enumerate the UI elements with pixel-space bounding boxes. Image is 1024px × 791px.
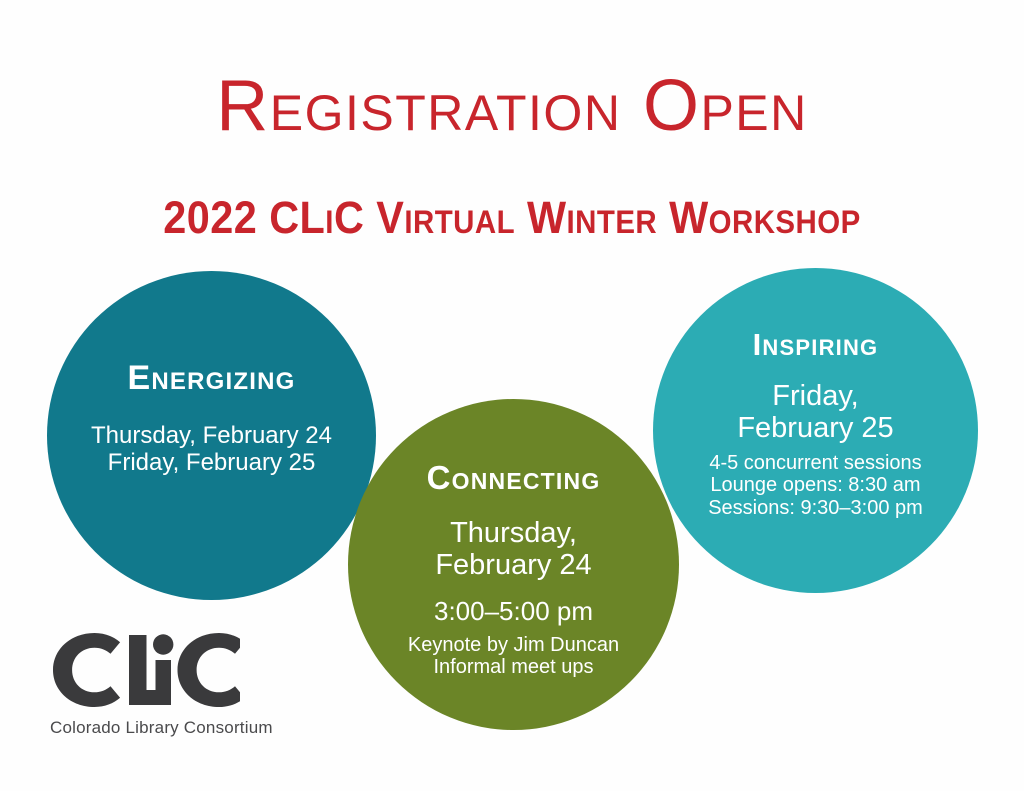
circle-connecting: Connecting Thursday, February 24 3:00–5:… xyxy=(348,399,679,730)
circle-inspiring-detail-1: 4-5 concurrent sessions xyxy=(659,452,972,474)
circle-inspiring-date-line-1: Friday, xyxy=(663,380,968,412)
clic-logo-tagline: Colorado Library Consortium xyxy=(50,718,252,738)
circle-connecting-details: Keynote by Jim Duncan Informal meet ups xyxy=(356,634,671,679)
circle-energizing: Energizing Thursday, February 24 Friday,… xyxy=(47,271,376,600)
page-title: Registration Open xyxy=(0,64,1024,148)
circle-energizing-line-1: Thursday, February 24 xyxy=(55,423,368,450)
circle-energizing-line-2: Friday, February 25 xyxy=(55,450,368,477)
circle-energizing-heading: Energizing xyxy=(47,361,376,397)
circle-connecting-date: Thursday, February 24 xyxy=(358,517,669,582)
circle-inspiring-date: Friday, February 25 xyxy=(663,380,968,445)
poster-canvas: Registration Open 2022 CLiC Virtual Wint… xyxy=(0,0,1024,791)
circle-energizing-body: Thursday, February 24 Friday, February 2… xyxy=(55,423,368,477)
circle-inspiring-detail-2: Lounge opens: 8:30 am xyxy=(659,474,972,496)
circle-connecting-heading: Connecting xyxy=(348,461,679,496)
circle-connecting-detail-2: Informal meet ups xyxy=(356,656,671,678)
circle-connecting-time: 3:00–5:00 pm xyxy=(358,596,669,627)
clic-logo: Colorado Library Consortium xyxy=(50,630,255,750)
circle-inspiring: Inspiring Friday, February 25 4-5 concur… xyxy=(653,268,978,593)
circle-inspiring-heading: Inspiring xyxy=(653,329,978,362)
circle-inspiring-detail-3: Sessions: 9:30–3:00 pm xyxy=(659,497,972,519)
circle-inspiring-date-line-2: February 25 xyxy=(663,412,968,444)
clic-wordmark-icon xyxy=(50,630,240,714)
circle-connecting-date-line-1: Thursday, xyxy=(358,517,669,549)
circle-inspiring-details: 4-5 concurrent sessions Lounge opens: 8:… xyxy=(659,452,972,519)
circle-connecting-date-line-2: February 24 xyxy=(358,549,669,581)
circle-connecting-detail-1: Keynote by Jim Duncan xyxy=(356,634,671,656)
page-subtitle: 2022 CLiC Virtual Winter Workshop xyxy=(41,190,983,246)
